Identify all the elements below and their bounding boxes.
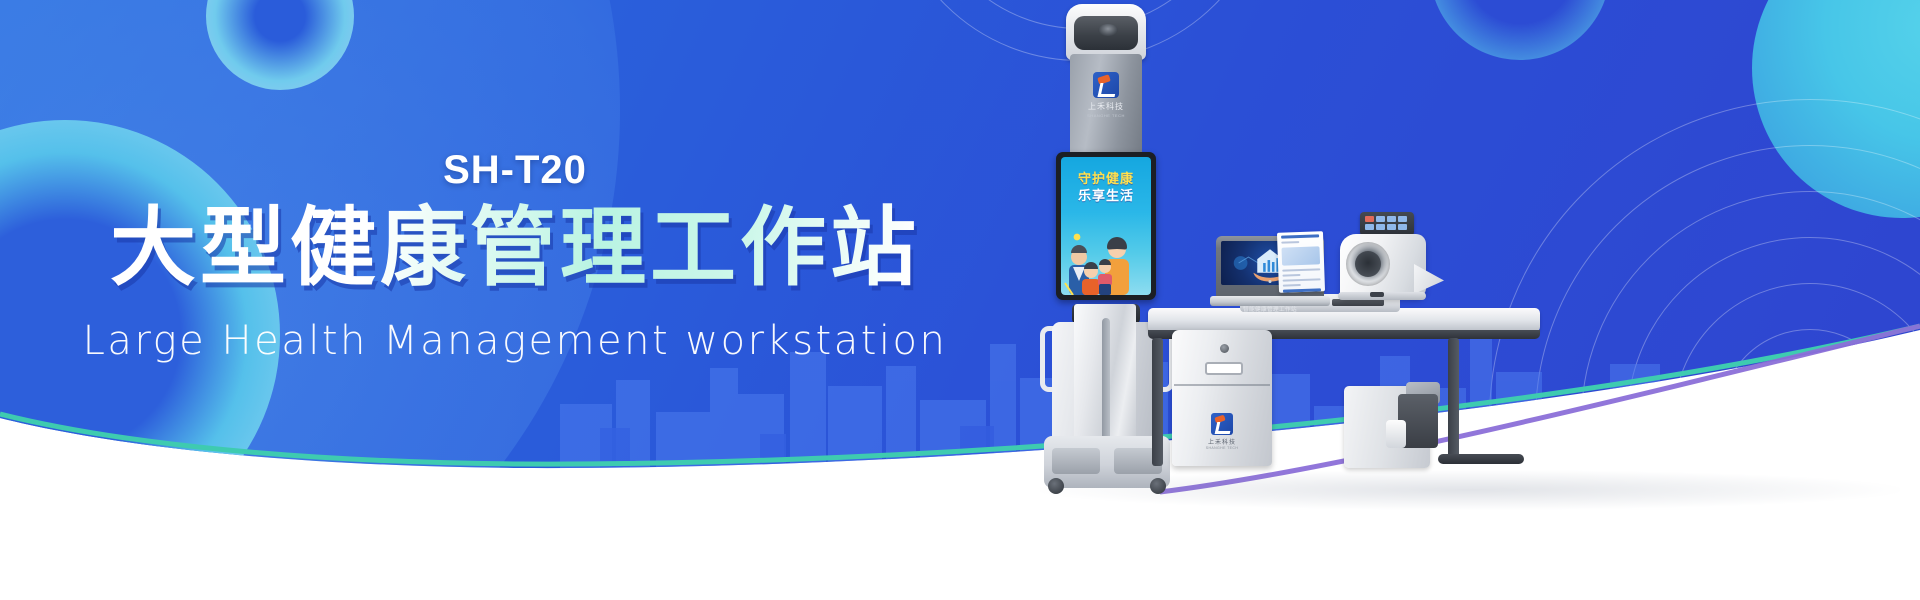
cabinet-brand-logo: 上禾科技 SHANGHE TECH	[1172, 413, 1272, 450]
bp-key-icon[interactable]	[1398, 224, 1407, 230]
health-report-card	[1277, 231, 1325, 293]
brand-name-cn: 上禾科技	[1070, 101, 1142, 112]
laptop-power-led-icon	[1269, 280, 1272, 283]
workstation-desk: 上禾科技 SHANGHE TECH	[1148, 286, 1578, 496]
bp-key-grid	[1365, 216, 1407, 230]
desk-foot-rail	[1438, 454, 1524, 464]
kiosk-height-sensor-hood	[1066, 4, 1146, 60]
report-chart-block	[1281, 246, 1320, 265]
kiosk-brand-logo: 上禾科技 SHANGHE TECH	[1070, 72, 1142, 118]
cabinet-lock-icon	[1220, 344, 1229, 353]
brand-name-en: SHANGHE TECH	[1172, 446, 1272, 450]
report-line	[1282, 274, 1300, 277]
brand-mark-icon	[1211, 413, 1233, 435]
foot-pad-left	[1052, 448, 1100, 474]
bp-key-icon[interactable]	[1365, 216, 1374, 222]
bp-key-icon[interactable]	[1365, 224, 1374, 230]
laptop-caption: 智能健康管理工作站	[1216, 305, 1324, 313]
brand-name-cn: 上禾科技	[1172, 437, 1272, 446]
desk-leg-right	[1448, 338, 1459, 458]
page-subtitle: Large Health Management workstation	[0, 318, 1030, 364]
report-line	[1283, 284, 1301, 287]
model-code: SH-T20	[0, 148, 1030, 193]
caster-wheel-left-icon	[1048, 478, 1064, 494]
kiosk-upper-panel: 上禾科技 SHANGHE TECH	[1070, 54, 1142, 158]
paper-roll-icon	[1386, 420, 1406, 448]
kiosk-sensor-housing	[1074, 16, 1138, 50]
bp-port-icon	[1370, 292, 1384, 297]
kiosk-display-content: 守护健康 乐享生活	[1061, 157, 1151, 295]
laptop-keyboard-base	[1210, 296, 1330, 306]
bp-key-icon[interactable]	[1376, 216, 1385, 222]
desk-cabinet: 上禾科技 SHANGHE TECH	[1172, 330, 1272, 466]
brand-mark-icon	[1093, 72, 1119, 98]
bp-keypad[interactable]	[1360, 212, 1414, 236]
desk-leg-left	[1152, 338, 1163, 466]
bp-armrest	[1414, 264, 1444, 294]
cabinet-card-slot	[1205, 362, 1243, 375]
report-line	[1283, 278, 1321, 281]
report-line	[1281, 234, 1319, 238]
kiosk-slogan-line2: 乐享生活	[1061, 185, 1151, 204]
bp-arm-cuff-opening	[1346, 242, 1390, 286]
report-line	[1282, 268, 1320, 271]
page-title: 大型健康管理工作站	[0, 202, 1030, 295]
bp-key-icon[interactable]	[1387, 224, 1396, 230]
bp-key-icon[interactable]	[1376, 224, 1385, 230]
bp-housing	[1340, 234, 1426, 298]
blood-pressure-monitor[interactable]	[1332, 212, 1442, 302]
ultrasonic-sensor-icon	[1098, 24, 1118, 36]
kiosk-display[interactable]: 守护健康 乐享生活	[1056, 152, 1156, 300]
report-line	[1281, 241, 1299, 244]
banner-copy: SH-T20 大型健康管理工作站 Large Health Management…	[0, 0, 1030, 600]
cabinet-panel-divider	[1174, 384, 1270, 386]
product-image: 上禾科技 SHANGHE TECH 守护健康 乐享生活	[1020, 0, 1920, 600]
family-illustration-icon	[1061, 227, 1151, 295]
bp-key-icon[interactable]	[1387, 216, 1396, 222]
product-hero-banner: SH-T20 大型健康管理工作站 Large Health Management…	[0, 0, 1920, 600]
brand-name-en: SHANGHE TECH	[1070, 113, 1142, 118]
bp-key-icon[interactable]	[1398, 216, 1407, 222]
